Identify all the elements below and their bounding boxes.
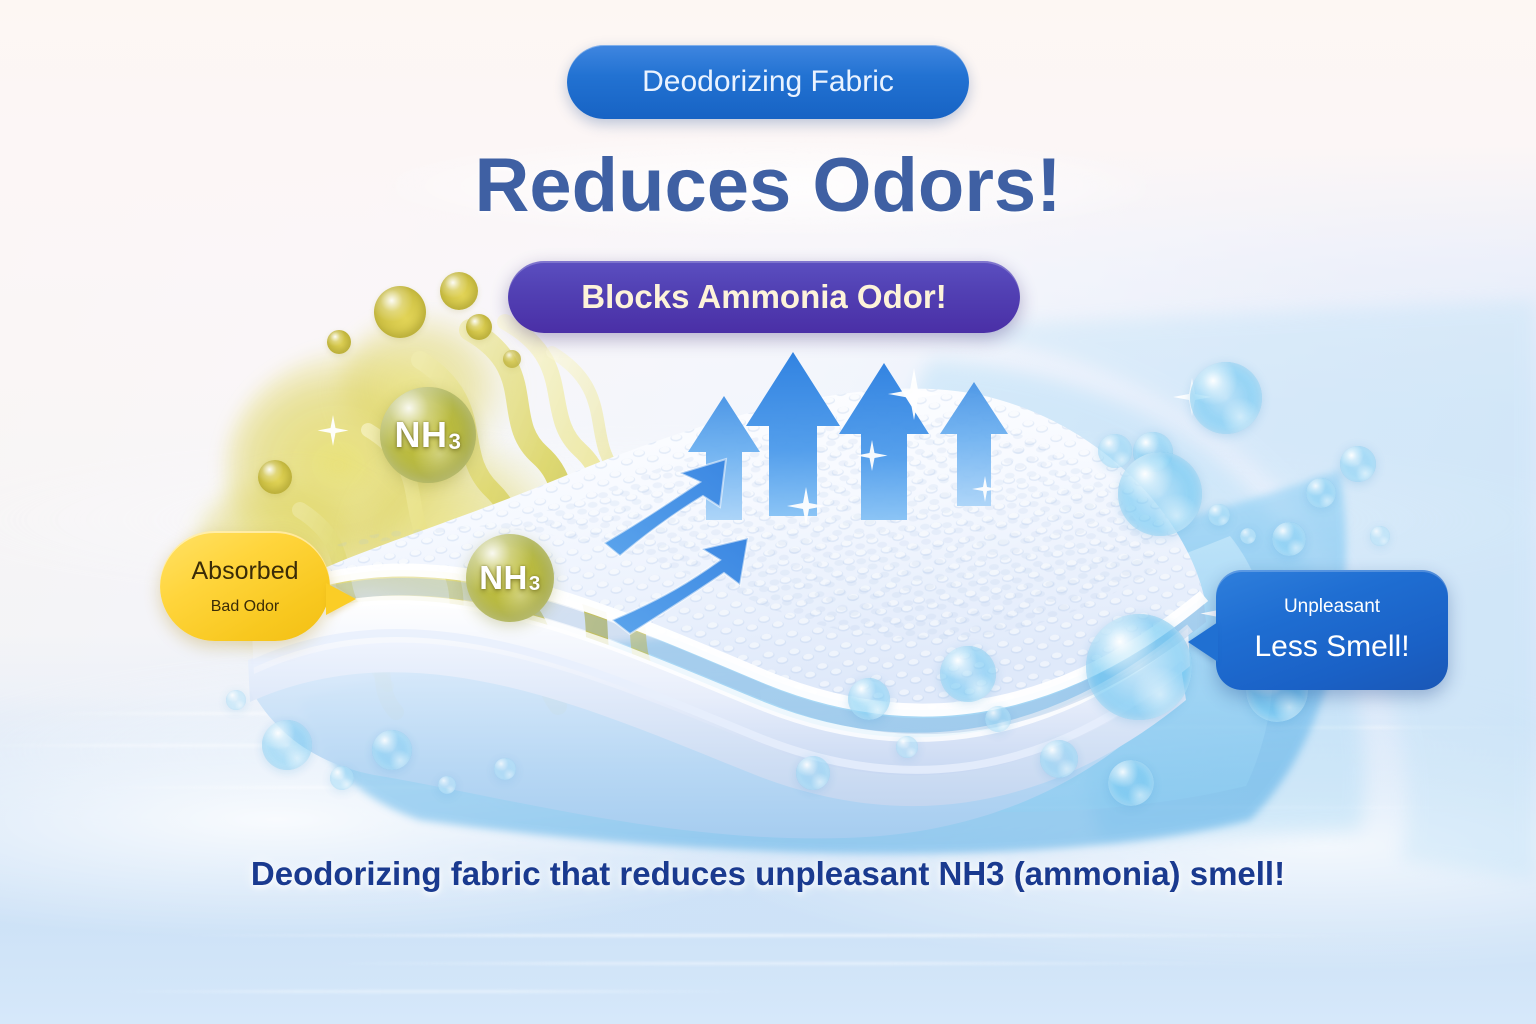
sub-banner-label: Blocks Ammonia Odor! — [581, 278, 947, 316]
headline-text: Reduces Odors! — [474, 143, 1061, 228]
nh3-formula-2: NH — [479, 559, 528, 597]
callout-less-smell[interactable]: Unpleasant Less Smell! — [1216, 570, 1448, 690]
top-badge-label: Deodorizing Fabric — [642, 65, 894, 99]
callout-absorbed[interactable]: Absorbed Bad Odor — [160, 531, 330, 641]
bottom-caption-text: Deodorizing fabric that reduces unpleasa… — [251, 855, 1285, 892]
top-badge[interactable]: Deodorizing Fabric — [567, 45, 969, 119]
bottom-caption: Deodorizing fabric that reduces unpleasa… — [0, 852, 1536, 896]
nh3-molecule-bubble-2: NH3 — [466, 534, 554, 622]
sub-banner[interactable]: Blocks Ammonia Odor! — [508, 261, 1020, 333]
callout-absorbed-tail — [326, 583, 356, 615]
callout-less-smell-subtitle: Less Smell! — [1254, 630, 1409, 664]
nh3-molecule-bubble-1: NH3 — [380, 387, 476, 483]
nh3-formula-1: NH — [395, 414, 448, 456]
nh3-subscript-2: 3 — [529, 572, 541, 596]
callout-absorbed-title: Absorbed — [191, 557, 298, 586]
callout-less-smell-title: Unpleasant — [1284, 596, 1380, 618]
nh3-subscript-1: 3 — [449, 429, 462, 455]
callout-less-smell-tail — [1188, 622, 1218, 662]
page-headline: Reduces Odors! — [0, 140, 1536, 232]
poster-canvas: NH3 NH3 Deodorizing Fabric Reduces Odors… — [0, 0, 1536, 1024]
callout-absorbed-subtitle: Bad Odor — [211, 598, 279, 616]
